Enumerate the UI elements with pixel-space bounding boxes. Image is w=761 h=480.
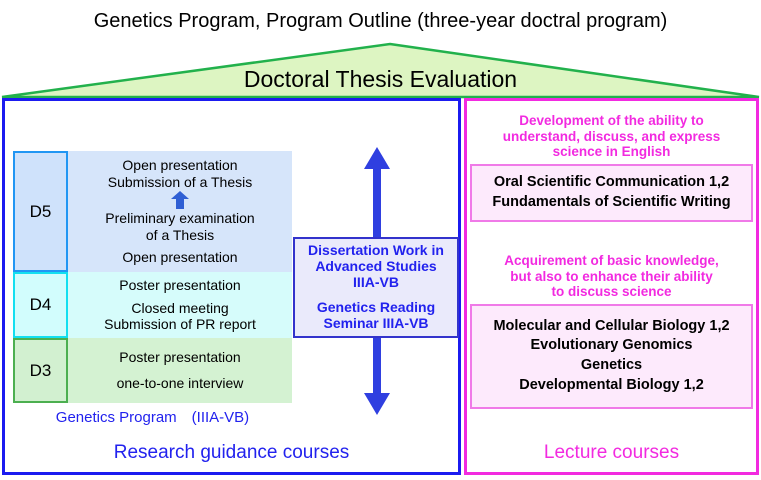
d3-line-one-to-one-interview: one-to-one interview: [117, 375, 244, 392]
dissertation-work-box: Dissertation Work in Advanced Studies II…: [293, 237, 459, 338]
d3-line-poster-presentation: Poster presentation: [119, 349, 240, 366]
english-heading-line-1: Development of the ability to: [470, 113, 753, 129]
year-body-d5: Open presentation Submission of a Thesis…: [68, 151, 292, 272]
year-row-d3: D3 Poster presentation one-to-one interv…: [13, 338, 292, 403]
lecture-group-english: Development of the ability to understand…: [470, 113, 753, 222]
lecture-group-science: Acquirement of basic knowledge, but also…: [470, 253, 753, 409]
dissertation-line-3: IIIA-VB: [353, 275, 399, 291]
page-title: Genetics Program, Program Outline (three…: [0, 10, 761, 33]
year-body-d3: Poster presentation one-to-one interview: [68, 338, 292, 403]
english-course-2: Fundamentals of Scientific Writing: [492, 193, 730, 213]
genetics-program-label: Genetics Program (IIIA-VB): [13, 406, 292, 427]
science-course-2: Evolutionary Genomics: [531, 336, 693, 356]
d4-line-submission-pr-report: Submission of PR report: [104, 316, 256, 333]
english-heading-line-2: understand, discuss, and express: [470, 129, 753, 145]
science-course-3: Genetics: [581, 356, 642, 376]
d5-progress-arrow: [171, 190, 189, 210]
d4-line-poster-presentation: Poster presentation: [119, 277, 240, 294]
year-grid: D5 Open presentation Submission of a The…: [13, 151, 292, 403]
d5-line-open-presentation-top: Open presentation: [122, 157, 237, 174]
d5-line-preliminary-examination: Preliminary examination: [105, 210, 254, 227]
d5-line-open-presentation-bottom: Open presentation: [122, 249, 237, 266]
dissertation-line-2: Advanced Studies: [315, 259, 436, 275]
lecture-group-science-heading: Acquirement of basic knowledge, but also…: [470, 253, 753, 300]
dissertation-line-5: Seminar IIIA-VB: [323, 316, 428, 332]
d5-line-submission-of-thesis: Submission of a Thesis: [108, 174, 252, 191]
science-heading-line-1: Acquirement of basic knowledge,: [470, 253, 753, 269]
year-tag-d5: D5: [13, 151, 68, 272]
year-row-d4: D4 Poster presentation Closed meeting Su…: [13, 272, 292, 338]
research-guidance-panel: D5 Open presentation Submission of a The…: [2, 98, 461, 475]
up-arrow-icon: [171, 191, 189, 209]
english-course-1: Oral Scientific Communication 1,2: [494, 173, 729, 193]
diagram-canvas: Genetics Program, Program Outline (three…: [0, 0, 761, 480]
year-body-d4: Poster presentation Closed meeting Submi…: [68, 272, 292, 338]
year-tag-d3: D3: [13, 338, 68, 403]
lecture-group-english-heading: Development of the ability to understand…: [470, 113, 753, 160]
science-course-1: Molecular and Cellular Biology 1,2: [493, 317, 729, 337]
year-tag-d4: D4: [13, 272, 68, 338]
lecture-courses-footer-label: Lecture courses: [467, 442, 756, 464]
science-heading-line-3: to discuss science: [470, 284, 753, 300]
d5-line-of-a-thesis: of a Thesis: [146, 227, 214, 244]
science-course-box: Molecular and Cellular Biology 1,2 Evolu…: [470, 304, 753, 409]
lecture-courses-panel: Development of the ability to understand…: [464, 98, 759, 475]
dissertation-line-1: Dissertation Work in: [308, 243, 444, 259]
banner-label: Doctoral Thesis Evaluation: [0, 66, 761, 93]
english-heading-line-3: science in English: [470, 144, 753, 160]
science-course-4: Developmental Biology 1,2: [519, 376, 704, 396]
research-guidance-footer-label: Research guidance courses: [5, 442, 458, 464]
dissertation-line-4: Genetics Reading: [317, 300, 435, 316]
science-heading-line-2: but also to enhance their ability: [470, 269, 753, 285]
year-row-d5: D5 Open presentation Submission of a The…: [13, 151, 292, 272]
english-course-box: Oral Scientific Communication 1,2 Fundam…: [470, 164, 753, 222]
d4-line-closed-meeting: Closed meeting: [131, 300, 228, 317]
